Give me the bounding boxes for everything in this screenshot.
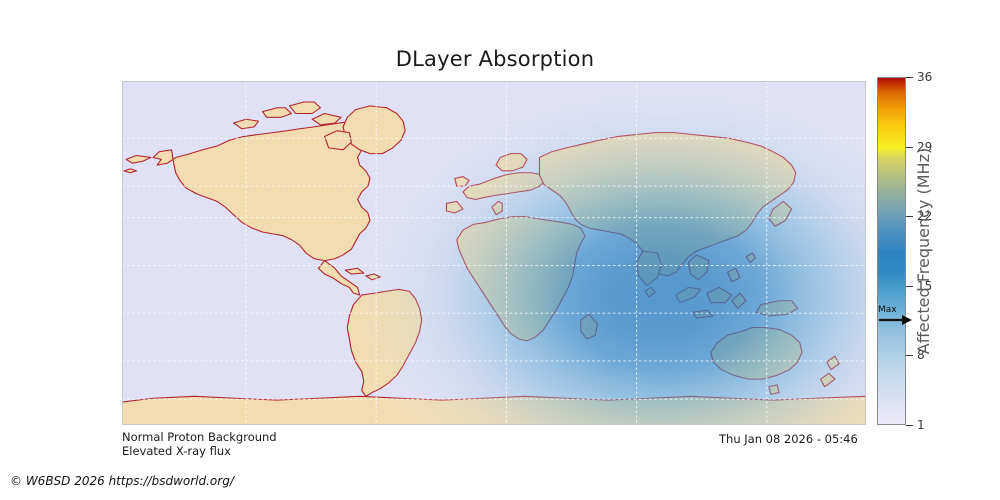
proton-status-note: Normal Proton Background <box>122 430 277 444</box>
xray-status-note: Elevated X-ray flux <box>122 444 231 458</box>
figure-root: DLayer Absorption <box>0 0 1000 500</box>
page-title: DLayer Absorption <box>0 47 990 71</box>
timestamp: Thu Jan 08 2026 - 05:46 <box>719 432 858 446</box>
colorbar-tick-mark <box>906 425 913 426</box>
world-map[interactable] <box>122 81 866 425</box>
colorbar[interactable] <box>877 77 906 425</box>
map-canvas <box>122 81 866 425</box>
colorbar-gradient <box>877 77 906 425</box>
colorbar-axis-label: Affected Frequency (MHz) <box>906 77 940 425</box>
credit-line: © W6BSD 2026 https://bsdworld.org/ <box>10 474 234 488</box>
